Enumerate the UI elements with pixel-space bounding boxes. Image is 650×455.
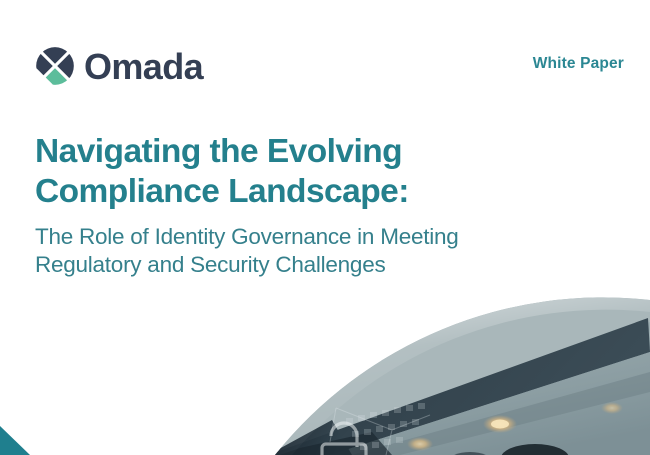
- photo-clip-group: [255, 280, 650, 455]
- photo-downlight-3: [601, 402, 623, 414]
- photo-left-dark-wedge-2: [280, 432, 392, 455]
- omada-logo-icon[interactable]: [35, 46, 75, 86]
- brand-wordmark: Omada: [84, 49, 203, 85]
- page-subtitle: The Role of Identity Governance in Meeti…: [35, 223, 555, 280]
- photo-base-ceiling: [255, 280, 650, 455]
- photo-left-dark-wedge: [268, 420, 352, 455]
- padlock-icon: [322, 423, 366, 455]
- photo-secondary-band: [352, 372, 650, 455]
- corner-accent-triangle: [0, 426, 30, 455]
- photo-upper-light-band: [275, 297, 650, 455]
- photo-foreground-silhouette: [501, 444, 569, 455]
- photo-grid-pattern: [346, 403, 425, 450]
- white-paper-cover-page: Omada White Paper Navigating the Evolvin…: [0, 0, 650, 455]
- photo-lower-plane: [330, 352, 650, 455]
- photo-downlight-1: [483, 415, 517, 433]
- photo-network-lines: [330, 408, 430, 455]
- document-type-label: White Paper: [533, 55, 624, 73]
- photo-downlight-2: [407, 437, 433, 451]
- photo-downlight-1-core: [491, 420, 509, 429]
- photo-dark-beam: [268, 318, 650, 455]
- photo-arc-feather: [275, 297, 650, 455]
- title-block: Navigating the Evolving Compliance Lands…: [35, 132, 555, 280]
- brand-header: Omada: [35, 44, 203, 88]
- page-title: Navigating the Evolving Compliance Lands…: [35, 132, 555, 211]
